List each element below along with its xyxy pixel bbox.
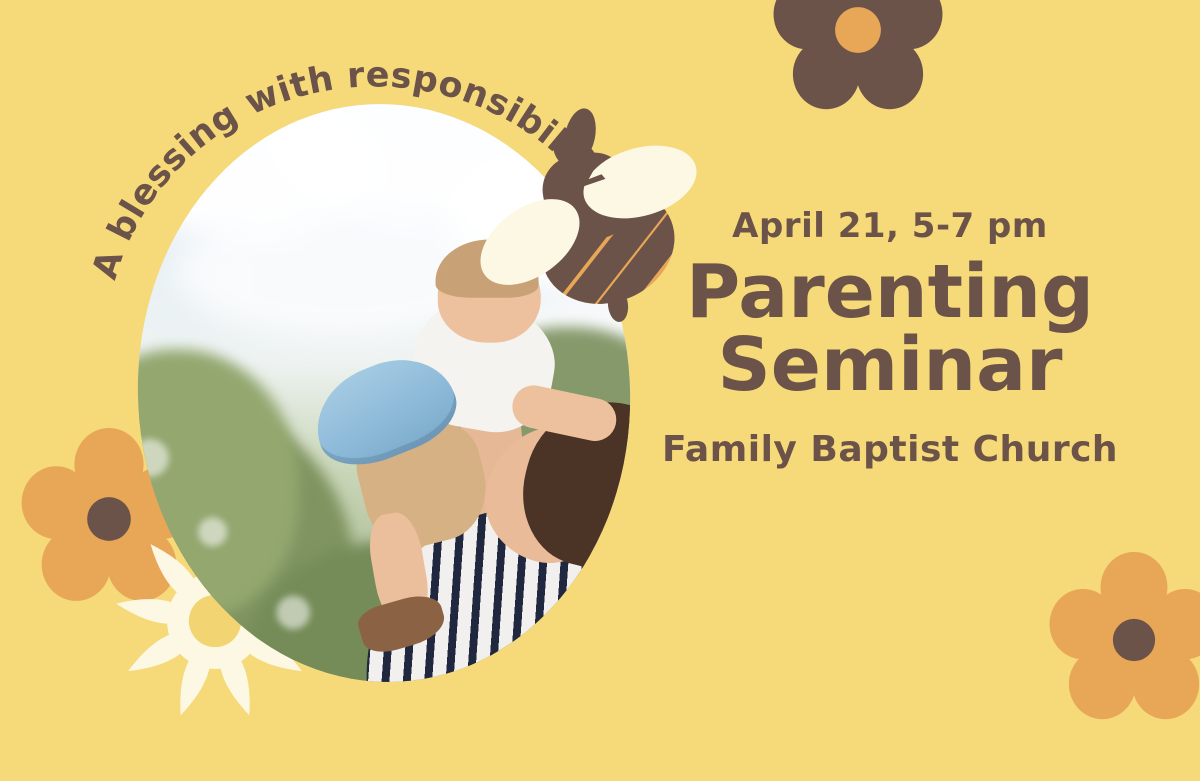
family-photo bbox=[123, 92, 645, 695]
event-title-line-2: Seminar bbox=[660, 329, 1120, 402]
page-title: Parenting Seminar bbox=[660, 256, 1120, 401]
event-venue: Family Baptist Church bbox=[660, 429, 1120, 470]
event-details: April 21, 5-7 pm Parenting Seminar Famil… bbox=[660, 206, 1120, 470]
event-poster: A blessing with responsibility April 21,… bbox=[0, 0, 1200, 781]
event-title-line-1: Parenting bbox=[660, 256, 1120, 329]
brown-flower-icon bbox=[770, 0, 946, 118]
photo-oval bbox=[123, 92, 645, 695]
orange-flower-icon bbox=[1046, 552, 1200, 728]
event-date: April 21, 5-7 pm bbox=[660, 206, 1120, 246]
